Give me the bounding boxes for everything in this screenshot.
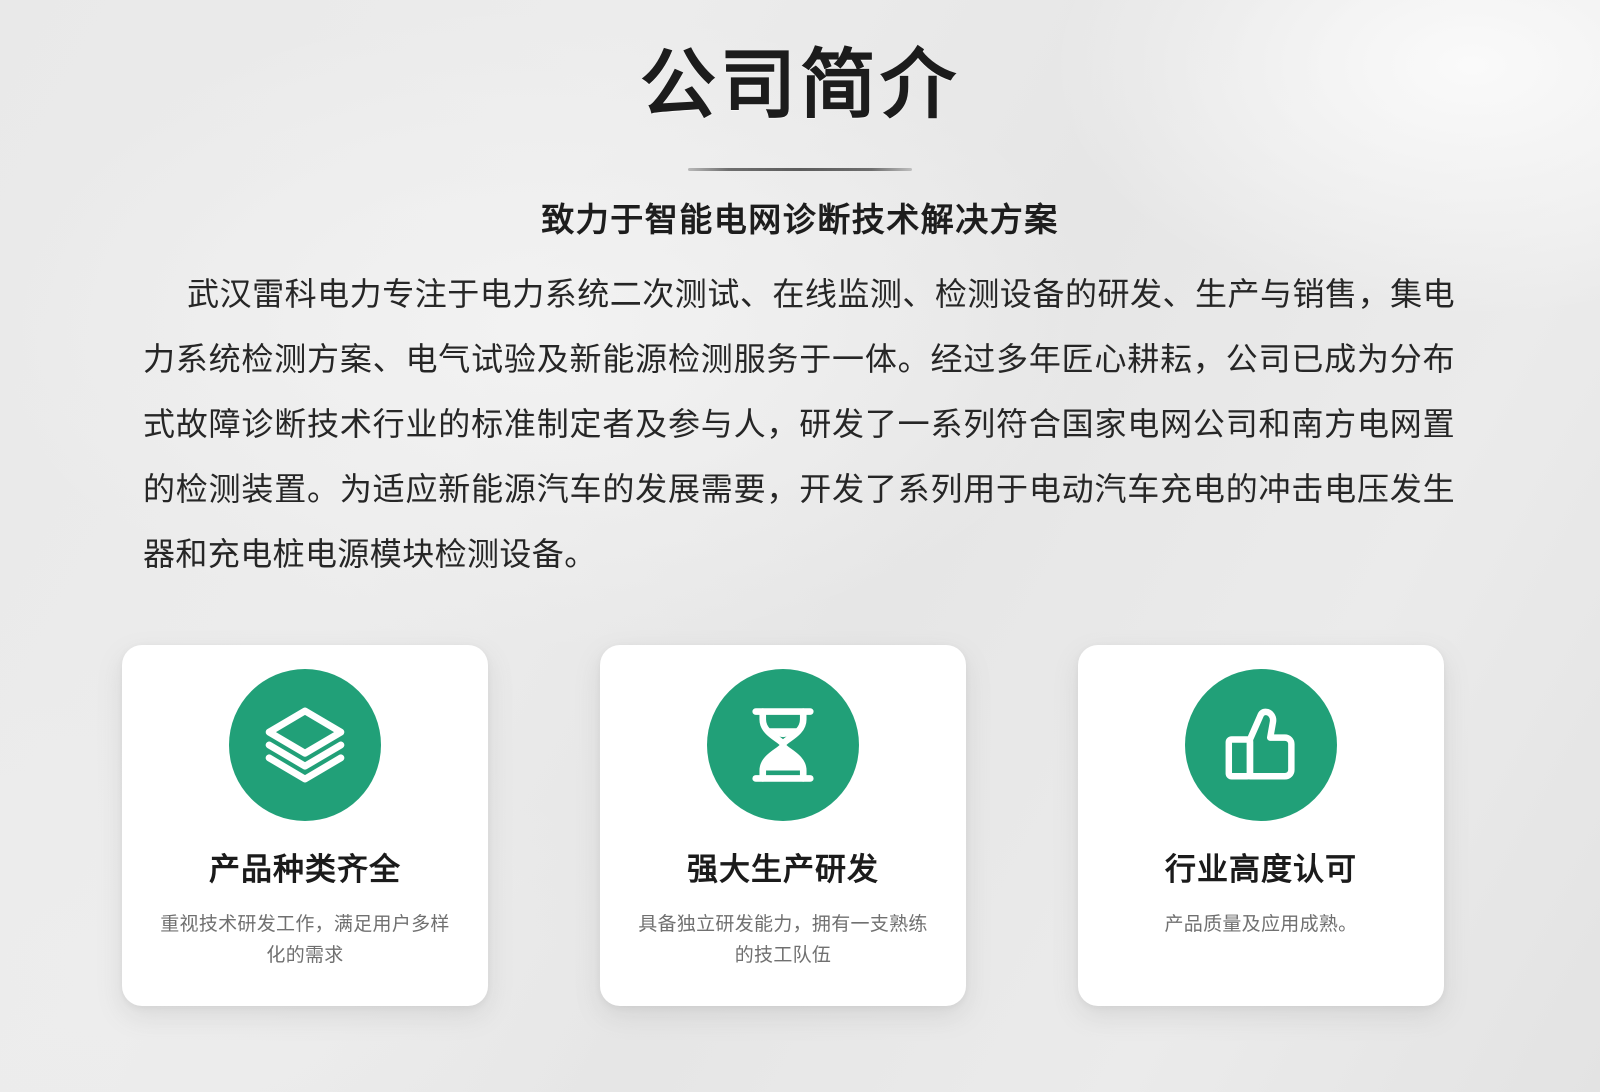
page-title: 公司简介 bbox=[0, 0, 1600, 124]
company-intro-paragraph: 武汉雷科电力专注于电力系统二次测试、在线监测、检测设备的研发、生产与销售，集电力… bbox=[143, 262, 1455, 587]
feature-card-description: 产品质量及应用成熟。 bbox=[1115, 909, 1407, 940]
feature-card-title: 行业高度认可 bbox=[1165, 851, 1357, 888]
feature-card-list: 产品种类齐全 重视技术研发工作，满足用户多样化的需求 强大生产研发 具备独立研发… bbox=[122, 645, 1444, 1006]
feature-card-product-range[interactable]: 产品种类齐全 重视技术研发工作，满足用户多样化的需求 bbox=[122, 645, 488, 1006]
feature-card-description: 具备独立研发能力，拥有一支熟练的技工队伍 bbox=[637, 909, 929, 971]
feature-card-rnd[interactable]: 强大生产研发 具备独立研发能力，拥有一支熟练的技工队伍 bbox=[600, 645, 966, 1006]
intro-text: 武汉雷科电力专注于电力系统二次测试、在线监测、检测设备的研发、生产与销售，集电力… bbox=[143, 276, 1455, 572]
feature-card-description: 重视技术研发工作，满足用户多样化的需求 bbox=[159, 909, 451, 971]
feature-card-title: 产品种类齐全 bbox=[209, 851, 401, 888]
thumbs-up-icon bbox=[1185, 669, 1337, 821]
feature-card-industry-recognition[interactable]: 行业高度认可 产品质量及应用成熟。 bbox=[1078, 645, 1444, 1006]
layers-icon bbox=[229, 669, 381, 821]
title-divider bbox=[688, 168, 912, 171]
page-header: 公司简介 致力于智能电网诊断技术解决方案 bbox=[0, 0, 1600, 241]
page-subtitle: 致力于智能电网诊断技术解决方案 bbox=[0, 193, 1600, 241]
feature-card-title: 强大生产研发 bbox=[687, 851, 879, 888]
hourglass-icon bbox=[707, 669, 859, 821]
